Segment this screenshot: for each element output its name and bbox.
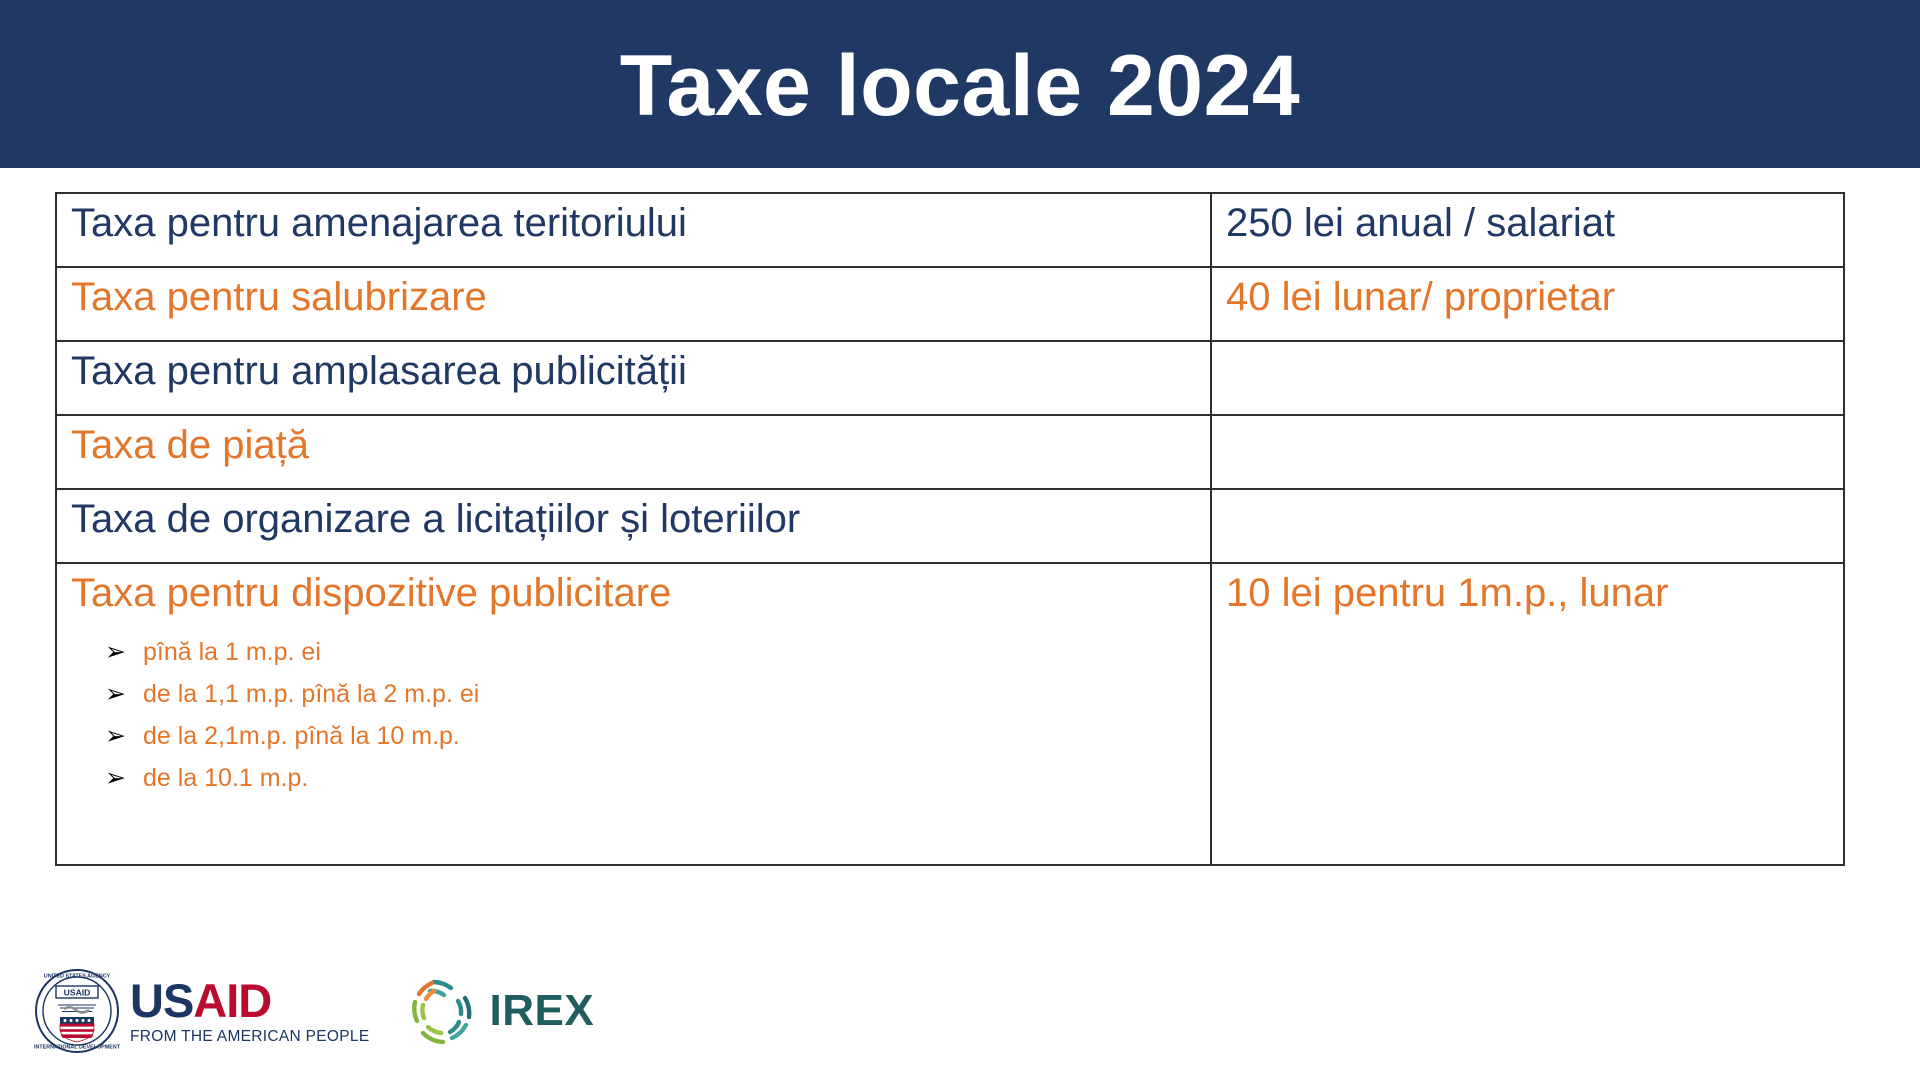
tax-value-label bbox=[1226, 494, 1831, 496]
usaid-logo: UNITED STATES AGENCY INTERNATIONAL DEVEL… bbox=[34, 968, 369, 1054]
irex-mark-icon bbox=[403, 972, 481, 1050]
tax-value-cell bbox=[1211, 415, 1844, 489]
arrow-bullet-icon: ➢ bbox=[105, 715, 126, 757]
table-row: Taxa pentru dispozitive publicitare ➢ pî… bbox=[56, 563, 1844, 865]
tax-value-cell bbox=[1211, 341, 1844, 415]
irex-wordmark: IREX bbox=[489, 989, 594, 1033]
tax-value-label: 250 lei anual / salariat bbox=[1226, 198, 1831, 247]
svg-text:UNITED STATES AGENCY: UNITED STATES AGENCY bbox=[44, 974, 111, 980]
table-row: Taxa de piață bbox=[56, 415, 1844, 489]
svg-text:INTERNATIONAL DEVELOPMENT: INTERNATIONAL DEVELOPMENT bbox=[34, 1045, 120, 1051]
tax-name-label: Taxa de piață bbox=[71, 420, 1198, 469]
tax-name-cell: Taxa pentru amplasarea publicității bbox=[56, 341, 1211, 415]
tax-bracket-list: ➢ pînă la 1 m.p. ei ➢ de la 1,1 m.p. pîn… bbox=[71, 631, 1198, 799]
list-item-label: de la 10.1 m.p. bbox=[143, 764, 308, 792]
tax-value-cell: 250 lei anual / salariat bbox=[1211, 193, 1844, 267]
table-row: Taxa pentru amenajarea teritoriului 250 … bbox=[56, 193, 1844, 267]
tax-value-label bbox=[1226, 420, 1831, 422]
tax-value-cell: 40 lei lunar/ proprietar bbox=[1211, 267, 1844, 341]
usaid-word-aid: AID bbox=[193, 974, 271, 1027]
tax-name-cell: Taxa de piață bbox=[56, 415, 1211, 489]
svg-text:USAID: USAID bbox=[64, 987, 91, 997]
usaid-word-us: US bbox=[130, 974, 193, 1027]
tax-name-label: Taxa pentru amenajarea teritoriului bbox=[71, 198, 1198, 247]
tax-value-cell bbox=[1211, 489, 1844, 563]
list-item-label: de la 1,1 m.p. pînă la 2 m.p. ei bbox=[143, 680, 479, 708]
tax-name-cell: Taxa de organizare a licitațiilor și lot… bbox=[56, 489, 1211, 563]
tax-name-cell: Taxa pentru dispozitive publicitare ➢ pî… bbox=[56, 563, 1211, 865]
list-item: ➢ de la 1,1 m.p. pînă la 2 m.p. ei bbox=[143, 673, 1198, 715]
footer-logo-row: UNITED STATES AGENCY INTERNATIONAL DEVEL… bbox=[34, 968, 594, 1054]
tax-value-label: 10 lei pentru 1m.p., lunar bbox=[1226, 568, 1831, 617]
page-title: Taxe locale 2024 bbox=[620, 43, 1301, 129]
slide-header: Taxe locale 2024 bbox=[0, 0, 1920, 168]
list-item: ➢ pînă la 1 m.p. ei bbox=[143, 631, 1198, 673]
local-taxes-table: Taxa pentru amenajarea teritoriului 250 … bbox=[55, 192, 1845, 866]
tax-name-label: Taxa pentru amplasarea publicității bbox=[71, 346, 1198, 395]
irex-logo: IREX bbox=[403, 972, 594, 1050]
tax-value-label bbox=[1226, 346, 1831, 348]
list-item-label: pînă la 1 m.p. ei bbox=[143, 638, 321, 666]
tax-name-label: Taxa de organizare a licitațiilor și lot… bbox=[71, 494, 1198, 543]
table-row: Taxa pentru amplasarea publicității bbox=[56, 341, 1844, 415]
list-item: ➢ de la 2,1m.p. pînă la 10 m.p. bbox=[143, 715, 1198, 757]
usaid-tagline: FROM THE AMERICAN PEOPLE bbox=[130, 1029, 369, 1045]
table-row: Taxa pentru salubrizare 40 lei lunar/ pr… bbox=[56, 267, 1844, 341]
tax-name-label: Taxa pentru salubrizare bbox=[71, 272, 1198, 321]
arrow-bullet-icon: ➢ bbox=[105, 631, 126, 673]
tax-value-cell: 10 lei pentru 1m.p., lunar bbox=[1211, 563, 1844, 865]
arrow-bullet-icon: ➢ bbox=[105, 757, 126, 799]
list-item: ➢ de la 10.1 m.p. bbox=[143, 757, 1198, 799]
tax-name-label: Taxa pentru dispozitive publicitare bbox=[71, 568, 1198, 617]
list-item-label: de la 2,1m.p. pînă la 10 m.p. bbox=[143, 722, 460, 750]
tax-name-cell: Taxa pentru amenajarea teritoriului bbox=[56, 193, 1211, 267]
arrow-bullet-icon: ➢ bbox=[105, 673, 126, 715]
tax-value-label: 40 lei lunar/ proprietar bbox=[1226, 272, 1831, 321]
usaid-seal-icon: UNITED STATES AGENCY INTERNATIONAL DEVEL… bbox=[34, 968, 120, 1054]
usaid-wordmark: USAID FROM THE AMERICAN PEOPLE bbox=[130, 977, 369, 1045]
table-row: Taxa de organizare a licitațiilor și lot… bbox=[56, 489, 1844, 563]
tax-name-cell: Taxa pentru salubrizare bbox=[56, 267, 1211, 341]
